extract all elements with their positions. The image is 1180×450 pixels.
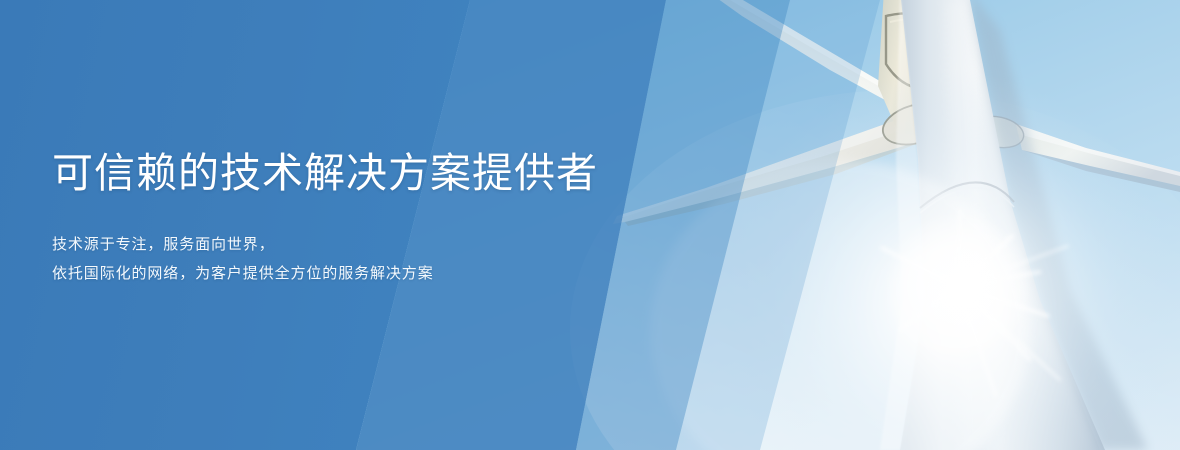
hero-banner: 可信赖的技术解决方案提供者 技术源于专注，服务面向世界， 依托国际化的网络，为客…	[0, 0, 1180, 450]
subtitle-line-2: 依托国际化的网络，为客户提供全方位的服务解决方案	[52, 259, 692, 288]
hero-subtitle: 技术源于专注，服务面向世界， 依托国际化的网络，为客户提供全方位的服务解决方案	[52, 200, 692, 288]
page-title: 可信赖的技术解决方案提供者	[52, 146, 692, 200]
subtitle-line-1: 技术源于专注，服务面向世界，	[52, 230, 692, 259]
hero-text-block: 可信赖的技术解决方案提供者 技术源于专注，服务面向世界， 依托国际化的网络，为客…	[52, 146, 692, 288]
